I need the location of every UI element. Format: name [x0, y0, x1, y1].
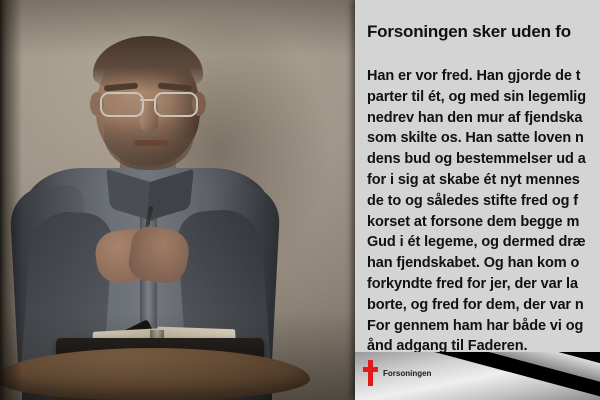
- slide-body-line: korset at forsone dem begge m: [367, 212, 600, 233]
- slide-body-line: Han er vor fred. Han gjorde de t: [367, 66, 600, 87]
- slide-body-line: borte, og fred for dem, der var n: [367, 295, 600, 316]
- forsoningen-logo: Forsoningen: [363, 360, 431, 386]
- slide-body-line: de to og således stifte fred og f: [367, 191, 600, 212]
- slide-title: Forsoningen sker uden fo: [367, 22, 600, 42]
- cross-vertical-bar: [368, 360, 373, 386]
- cross-horizontal-bar: [363, 367, 378, 372]
- slide-body-line: parter til ét, og med sin legemlig: [367, 87, 600, 108]
- frame-vignette: [0, 0, 358, 400]
- slide-body-line: dens bud og bestemmelser ud a: [367, 149, 600, 170]
- slide-body-line: nedrev han den mur af fjendska: [367, 108, 600, 129]
- slide-footer-band: Forsoningen: [355, 352, 600, 400]
- logo-text: Forsoningen: [383, 369, 431, 378]
- slide-body-text: Han er vor fred. Han gjorde de t parter …: [367, 66, 600, 357]
- video-frame: Forsoningen sker uden fo Han er vor fred…: [0, 0, 600, 400]
- cross-icon: [363, 360, 378, 386]
- slide-body-line: Gud i ét legeme, og dermed dræ: [367, 232, 600, 253]
- slide-body-line: som skilte os. Han satte loven n: [367, 128, 600, 149]
- video-pane: [0, 0, 358, 400]
- slide-body-line: han fjendskabet. Og han kom o: [367, 253, 600, 274]
- slide-body-line: for i sig at skabe ét nyt mennes: [367, 170, 600, 191]
- slide-body-line: For gennem ham har både vi og: [367, 316, 600, 337]
- slide-body-line: forkyndte fred for jer, der var la: [367, 274, 600, 295]
- presentation-slide: Forsoningen sker uden fo Han er vor fred…: [355, 0, 600, 400]
